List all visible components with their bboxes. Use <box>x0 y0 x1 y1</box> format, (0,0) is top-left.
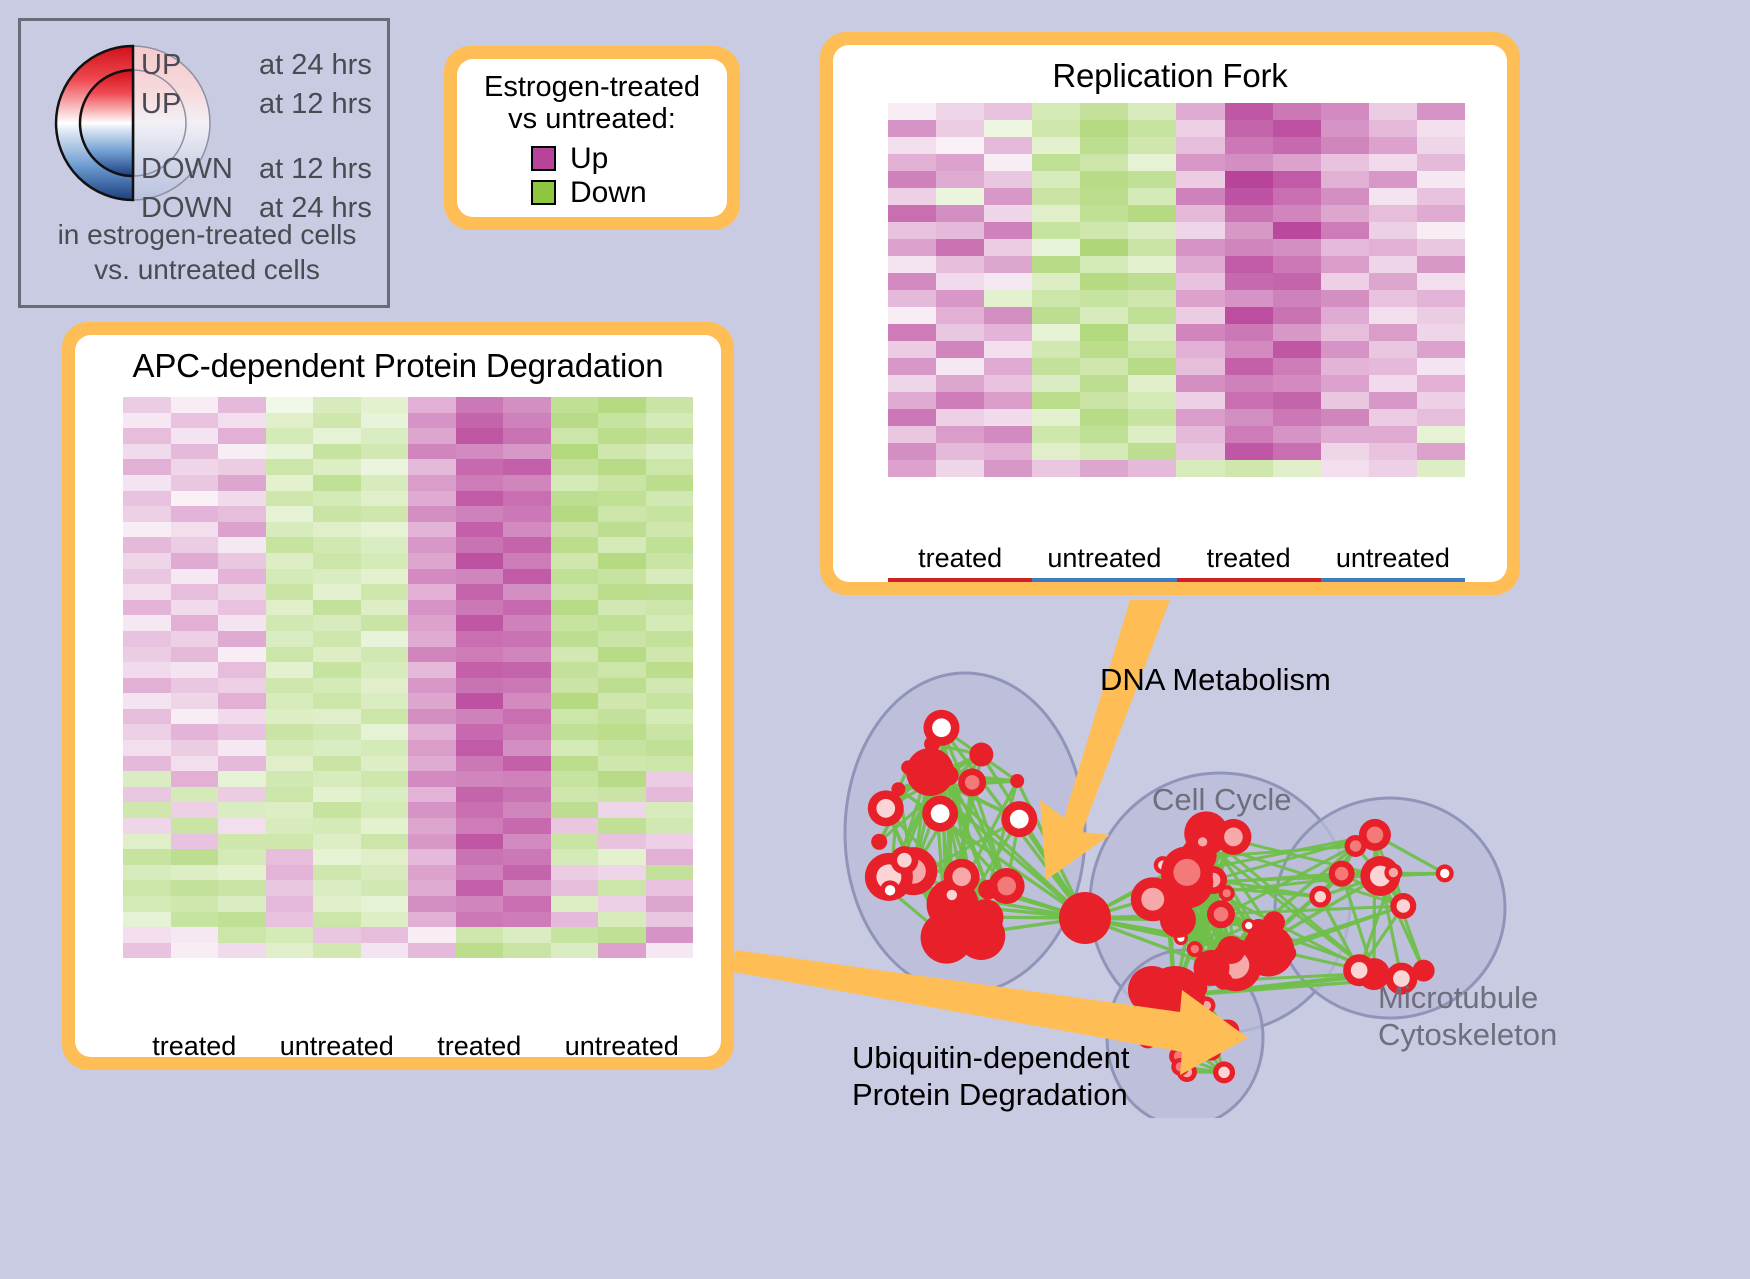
heatmap-cell <box>266 506 314 522</box>
heatmap-cell <box>1032 307 1080 324</box>
heatmap-cell <box>361 631 409 647</box>
heatmap-cell <box>361 615 409 631</box>
heatmap-cell <box>503 818 551 834</box>
heatmap-cell <box>1080 341 1128 358</box>
heatmap-cell <box>313 849 361 865</box>
heatmap-cell <box>266 553 314 569</box>
heatmap-cell <box>503 459 551 475</box>
heatmap-cell <box>456 537 504 553</box>
heatmap-cell <box>123 397 171 413</box>
group-label: treated <box>123 1031 266 1057</box>
heatmap-cell <box>266 569 314 585</box>
heatmap-cell <box>171 413 219 429</box>
heatmap-cell <box>551 553 599 569</box>
replication-fork-panel: Replication Fork treated untreated treat… <box>820 32 1520 595</box>
heatmap-cell <box>266 740 314 756</box>
heatmap-cell <box>1369 103 1417 120</box>
heatmap-cell <box>888 154 936 171</box>
heatmap-cell <box>1032 239 1080 256</box>
heatmap-cell <box>456 756 504 772</box>
heatmap-cell <box>171 787 219 803</box>
heatmap-cell <box>1128 256 1176 273</box>
heatmap-cell <box>171 631 219 647</box>
heatmap-cell <box>1080 392 1128 409</box>
heatmap-cell <box>171 428 219 444</box>
heatmap-cell <box>1128 222 1176 239</box>
heatmap-cell <box>551 506 599 522</box>
heatmap-cell <box>408 865 456 881</box>
heatmap-cell <box>408 428 456 444</box>
heatmap-cell <box>984 307 1032 324</box>
network-node[interactable] <box>1213 1022 1235 1044</box>
heatmap-cell <box>171 709 219 725</box>
heatmap-cell <box>1128 205 1176 222</box>
heatmap-cell <box>1369 426 1417 443</box>
heatmap-cell <box>1032 426 1080 443</box>
network-node[interactable] <box>1263 911 1285 933</box>
heatmap-cell <box>456 631 504 647</box>
heatmap-cell <box>313 709 361 725</box>
heatmap-cell <box>503 771 551 787</box>
heatmap-cell <box>1273 205 1321 222</box>
heatmap-cell <box>123 615 171 631</box>
network-node[interactable] <box>1010 774 1024 788</box>
heatmap-cell <box>408 631 456 647</box>
heatmap-cell <box>1032 460 1080 477</box>
heatmap-cell <box>598 880 646 896</box>
heatmap-cell <box>266 927 314 943</box>
heatmap-cell <box>646 428 694 444</box>
group-label: untreated <box>551 1031 694 1057</box>
heatmap-cell <box>936 392 984 409</box>
heatmap-cell <box>408 553 456 569</box>
heatmap-cell <box>408 600 456 616</box>
network-node[interactable] <box>906 748 954 796</box>
heatmap-cell <box>888 341 936 358</box>
heatmap-cell <box>123 880 171 896</box>
heatmap-cell <box>551 927 599 943</box>
heatmap-cell <box>123 943 171 959</box>
heatmap-cell <box>1273 137 1321 154</box>
legend-items: Up Down <box>457 142 727 210</box>
heatmap-cell <box>551 724 599 740</box>
heatmap-cell <box>598 397 646 413</box>
heatmap-cell <box>1080 409 1128 426</box>
heatmap-cell <box>408 927 456 943</box>
network-node[interactable] <box>921 912 973 964</box>
heatmap-cell <box>503 444 551 460</box>
heatmap-cell <box>503 943 551 959</box>
heatmap-cell <box>646 740 694 756</box>
network-node[interactable] <box>890 846 918 874</box>
heatmap-cell <box>551 865 599 881</box>
heatmap-cell <box>646 584 694 600</box>
heatmap-cell <box>646 724 694 740</box>
network-node[interactable] <box>1345 835 1367 857</box>
heatmap-cell <box>1273 392 1321 409</box>
heatmap-cell <box>1032 103 1080 120</box>
heatmap-cell <box>1128 324 1176 341</box>
heatmap-cell <box>646 537 694 553</box>
heatmap-cell <box>123 724 171 740</box>
network-node[interactable] <box>1215 819 1251 855</box>
heatmap-cell <box>408 912 456 928</box>
heatmap-cell <box>503 397 551 413</box>
heatmap-cell <box>408 647 456 663</box>
heatmap-cell <box>123 569 171 585</box>
heatmap-cell <box>1273 171 1321 188</box>
heatmap-cell <box>408 413 456 429</box>
heatmap-cell <box>361 849 409 865</box>
network-node[interactable] <box>1329 861 1355 887</box>
heatmap-cell <box>456 662 504 678</box>
heatmap-cell <box>123 740 171 756</box>
network-edge <box>1374 835 1375 974</box>
heatmap-cell <box>361 693 409 709</box>
heatmap-cell <box>1032 171 1080 188</box>
heatmap-cell <box>218 802 266 818</box>
heatmap-cell <box>551 631 599 647</box>
network-node[interactable] <box>969 743 993 767</box>
heatmap-cell <box>598 756 646 772</box>
heatmap-cell <box>936 188 984 205</box>
heatmap-cell <box>456 880 504 896</box>
heatmap-cell <box>936 460 984 477</box>
heatmap-cell <box>984 324 1032 341</box>
heatmap-cell <box>984 120 1032 137</box>
heatmap-cell <box>984 103 1032 120</box>
heatmap-cell <box>456 802 504 818</box>
heatmap-cell <box>266 849 314 865</box>
heatmap-cell <box>266 802 314 818</box>
heatmap-cell <box>171 600 219 616</box>
colorwheel-time: at 24 hrs <box>259 49 372 82</box>
heatmap-cell <box>218 459 266 475</box>
network-node[interactable] <box>1343 954 1375 986</box>
heatmap-cell <box>646 849 694 865</box>
heatmap-cell <box>646 709 694 725</box>
heatmap-cell <box>1321 154 1369 171</box>
network-node[interactable] <box>1141 1020 1163 1042</box>
heatmap-cell <box>1273 222 1321 239</box>
heatmap-cell <box>266 709 314 725</box>
heatmap-cell <box>361 943 409 959</box>
heatmap-cell <box>1225 154 1273 171</box>
heatmap-cell <box>266 880 314 896</box>
heatmap-cell <box>171 569 219 585</box>
heatmap-cell <box>313 522 361 538</box>
heatmap-cell <box>361 709 409 725</box>
heatmap-cell <box>1080 222 1128 239</box>
heatmap-cell <box>408 506 456 522</box>
heatmap-cell <box>1225 409 1273 426</box>
heatmap-cell <box>888 443 936 460</box>
legend-panel: Estrogen-treated vs untreated: Up Down <box>444 46 740 230</box>
heatmap-cell <box>123 834 171 850</box>
heatmap-cell <box>1032 375 1080 392</box>
heatmap-cell <box>218 724 266 740</box>
heatmap-cell <box>1417 341 1465 358</box>
heatmap-cell <box>598 631 646 647</box>
heatmap-cell <box>456 584 504 600</box>
network-node[interactable] <box>1171 1058 1189 1076</box>
network-node[interactable] <box>1436 864 1454 882</box>
heatmap-cell <box>171 849 219 865</box>
heatmap-cell <box>1369 120 1417 137</box>
heatmap-cell <box>1417 460 1465 477</box>
heatmap-cell <box>1273 239 1321 256</box>
network-node[interactable] <box>1309 886 1331 908</box>
heatmap-cell <box>408 818 456 834</box>
heatmap-cell <box>1225 205 1273 222</box>
heatmap-cell <box>218 475 266 491</box>
heatmap-cell <box>1225 290 1273 307</box>
heatmap-cell <box>361 662 409 678</box>
heatmap-cell <box>266 413 314 429</box>
heatmap-cell <box>503 428 551 444</box>
heatmap-cell <box>984 188 1032 205</box>
heatmap-cell <box>503 912 551 928</box>
network-node[interactable] <box>880 880 900 900</box>
heatmap-cell <box>646 506 694 522</box>
heatmap-cell <box>218 662 266 678</box>
panel-title: Replication Fork <box>833 45 1507 95</box>
heatmap-cell <box>408 834 456 850</box>
network-node[interactable] <box>1001 801 1037 837</box>
heatmap-cell <box>551 428 599 444</box>
replication-fork-axis: treated untreated treated untreated 12 h… <box>888 543 1465 582</box>
heatmap-cell <box>313 569 361 585</box>
heatmap-cell <box>598 459 646 475</box>
heatmap-cell <box>456 818 504 834</box>
network-node[interactable] <box>942 885 962 905</box>
heatmap-cell <box>598 569 646 585</box>
heatmap-cell <box>1080 443 1128 460</box>
heatmap-cell <box>218 600 266 616</box>
heatmap-cell <box>503 678 551 694</box>
heatmap-cell <box>1321 460 1369 477</box>
heatmap-cell <box>218 771 266 787</box>
heatmap-cell <box>1225 307 1273 324</box>
heatmap-cell <box>361 569 409 585</box>
heatmap-cell <box>361 818 409 834</box>
heatmap-cell <box>1128 239 1176 256</box>
up-swatch-icon <box>531 146 556 171</box>
network-node[interactable] <box>1059 892 1111 944</box>
colorwheel-row-up24: UP at 24 hrs <box>141 49 391 88</box>
heatmap-cell <box>888 137 936 154</box>
heatmap-cell <box>171 818 219 834</box>
heatmap-cell <box>598 865 646 881</box>
heatmap-cell <box>313 756 361 772</box>
heatmap-cell <box>361 678 409 694</box>
heatmap-cell <box>1417 256 1465 273</box>
heatmap-cell <box>171 475 219 491</box>
heatmap-cell <box>361 787 409 803</box>
heatmap-cell <box>1128 460 1176 477</box>
heatmap-cell <box>313 600 361 616</box>
heatmap-cell <box>1417 137 1465 154</box>
heatmap-cell <box>1128 409 1176 426</box>
heatmap-cell <box>313 506 361 522</box>
network-node[interactable] <box>1278 944 1296 962</box>
legend-panel-inner: Estrogen-treated vs untreated: Up Down <box>457 59 727 217</box>
heatmap-cell <box>313 615 361 631</box>
network-node[interactable] <box>923 710 959 746</box>
heatmap-cell <box>361 475 409 491</box>
heatmap-cell <box>456 865 504 881</box>
heatmap-cell <box>1176 375 1224 392</box>
heatmap-cell <box>598 927 646 943</box>
heatmap-cell <box>1080 137 1128 154</box>
heatmap-cell <box>456 647 504 663</box>
heatmap-cell <box>123 865 171 881</box>
heatmap-cell <box>503 896 551 912</box>
heatmap-cell <box>1417 188 1465 205</box>
network-node[interactable] <box>891 782 905 796</box>
heatmap-cell <box>313 475 361 491</box>
heatmap-cell <box>1128 154 1176 171</box>
heatmap-cell <box>1321 103 1369 120</box>
heatmap-cell <box>123 693 171 709</box>
heatmap-cell <box>503 475 551 491</box>
heatmap-cell <box>1080 239 1128 256</box>
network-node[interactable] <box>871 834 887 850</box>
heatmap-cell <box>1321 256 1369 273</box>
network-node[interactable] <box>1390 893 1416 919</box>
heatmap-cell <box>503 553 551 569</box>
network-node[interactable] <box>1128 966 1176 1014</box>
heatmap-cell <box>598 709 646 725</box>
heatmap-cell <box>218 413 266 429</box>
network-node[interactable] <box>958 768 986 796</box>
network-node[interactable] <box>1201 1041 1221 1061</box>
heatmap-cell <box>936 341 984 358</box>
heatmap-cell <box>1321 426 1369 443</box>
heatmap-cell <box>1225 103 1273 120</box>
heatmap-cell <box>218 896 266 912</box>
heatmap-cell <box>361 740 409 756</box>
heatmap-cell <box>936 426 984 443</box>
heatmap-cell <box>1225 460 1273 477</box>
heatmap-cell <box>1176 273 1224 290</box>
network-node[interactable] <box>1219 885 1235 901</box>
heatmap-cell <box>218 506 266 522</box>
heatmap-cell <box>1032 443 1080 460</box>
heatmap-cell <box>598 912 646 928</box>
heatmap-cell <box>313 537 361 553</box>
heatmap-cell <box>313 943 361 959</box>
heatmap-cell <box>503 491 551 507</box>
heatmap-cell <box>984 273 1032 290</box>
heatmap-cell <box>1273 460 1321 477</box>
heatmap-cell <box>1176 307 1224 324</box>
heatmap-cell <box>1369 256 1417 273</box>
heatmap-cell <box>551 787 599 803</box>
network-node[interactable] <box>967 899 1003 935</box>
heatmap-cell <box>171 397 219 413</box>
heatmap-cell <box>1321 171 1369 188</box>
heatmap-cell <box>123 802 171 818</box>
heatmap-cell <box>503 756 551 772</box>
heatmap-cell <box>1321 324 1369 341</box>
heatmap-cell <box>984 443 1032 460</box>
heatmap-cell <box>123 491 171 507</box>
heatmap-cell <box>1080 120 1128 137</box>
heatmap-cell <box>123 537 171 553</box>
heatmap-cell <box>503 537 551 553</box>
apc-heatmap <box>123 397 693 958</box>
network-node[interactable] <box>1384 864 1402 882</box>
heatmap-cell <box>1321 137 1369 154</box>
network-node[interactable] <box>1213 1061 1235 1083</box>
heatmap-cell <box>1080 205 1128 222</box>
heatmap-cell <box>598 943 646 959</box>
network-node[interactable] <box>1207 900 1235 928</box>
heatmap-cell <box>503 522 551 538</box>
heatmap-cell <box>218 615 266 631</box>
heatmap-cell <box>361 912 409 928</box>
heatmap-cell <box>171 506 219 522</box>
heatmap-cell <box>1321 120 1369 137</box>
heatmap-cell <box>1080 171 1128 188</box>
heatmap-cell <box>1321 273 1369 290</box>
heatmap-cell <box>551 662 599 678</box>
heatmap-cell <box>408 459 456 475</box>
heatmap-cell <box>408 943 456 959</box>
heatmap-cell <box>218 912 266 928</box>
heatmap-cell <box>1176 358 1224 375</box>
group-labels: treated untreated treated untreated <box>888 543 1465 574</box>
heatmap-cell <box>1225 426 1273 443</box>
network-node[interactable] <box>922 796 958 832</box>
heatmap-cell <box>408 724 456 740</box>
heatmap-cell <box>646 615 694 631</box>
heatmap-cell <box>888 120 936 137</box>
heatmap-cell <box>361 724 409 740</box>
heatmap-cell <box>936 205 984 222</box>
cluster-label-dna-metabolism: DNA Metabolism <box>1100 662 1331 699</box>
heatmap-cell <box>266 397 314 413</box>
heatmap-cell <box>456 693 504 709</box>
network-node[interactable] <box>1242 919 1256 933</box>
heatmap-cell <box>984 137 1032 154</box>
heatmap-cell <box>936 171 984 188</box>
heatmap-cell <box>598 475 646 491</box>
heatmap-cell <box>313 724 361 740</box>
network-node[interactable] <box>978 880 998 900</box>
heatmap-cell <box>266 662 314 678</box>
heatmap-cell <box>266 943 314 959</box>
heatmap-cell <box>218 756 266 772</box>
heatmap-cell <box>171 880 219 896</box>
heatmap-cell <box>503 615 551 631</box>
heatmap-cell <box>456 459 504 475</box>
heatmap-cell <box>266 678 314 694</box>
apc-axis: treated untreated treated untreated 12 h… <box>123 1031 693 1057</box>
heatmap-cell <box>1128 120 1176 137</box>
heatmap-cell <box>408 740 456 756</box>
heatmap-cell <box>171 943 219 959</box>
heatmap-cell <box>171 756 219 772</box>
heatmap-cell <box>551 491 599 507</box>
down-swatch-icon <box>531 180 556 205</box>
heatmap-cell <box>123 522 171 538</box>
heatmap-cell <box>361 834 409 850</box>
network-node[interactable] <box>1161 846 1213 898</box>
heatmap-cell <box>646 459 694 475</box>
heatmap-cell <box>1032 290 1080 307</box>
